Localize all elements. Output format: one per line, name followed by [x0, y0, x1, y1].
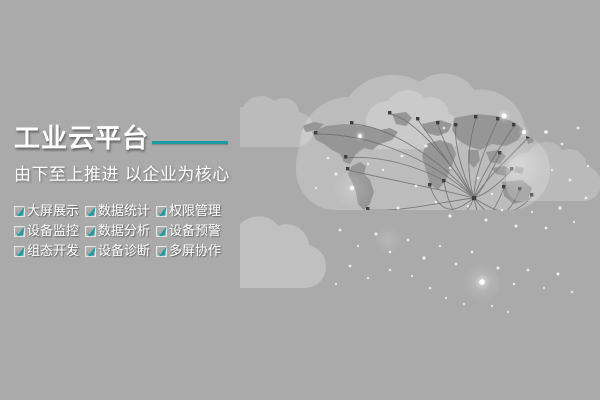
feature-item: 权限管理: [156, 202, 227, 221]
title-row: 工业云平台: [14, 124, 244, 154]
check-icon: [14, 226, 25, 237]
feature-checklist: 大屏展示数据统计权限管理设备监控数据分析设备预警组态开发设备诊断多屏协作: [14, 202, 244, 261]
feature-label: 设备监控: [27, 222, 79, 241]
feature-label: 数据统计: [98, 202, 150, 221]
check-icon: [156, 226, 167, 237]
check-icon: [85, 206, 96, 217]
feature-item: 多屏协作: [156, 242, 227, 261]
cloud-shape-bottom-left: [240, 216, 326, 288]
feature-item: 数据分析: [85, 222, 156, 241]
check-icon: [156, 206, 167, 217]
feature-label: 权限管理: [169, 202, 221, 221]
feature-item: 设备监控: [14, 222, 85, 241]
feature-item: 组态开发: [14, 242, 85, 261]
feature-label: 组态开发: [27, 242, 79, 261]
cloud-network-illustration: [240, 70, 600, 320]
page-title: 工业云平台: [14, 124, 149, 154]
feature-label: 设备预警: [169, 222, 221, 241]
subtitle: 由下至上推进 以企业为核心: [14, 164, 244, 186]
check-icon: [85, 226, 96, 237]
banner-root: 工业云平台 由下至上推进 以企业为核心 大屏展示数据统计权限管理设备监控数据分析…: [0, 0, 600, 400]
feature-item: 大屏展示: [14, 202, 85, 221]
feature-label: 数据分析: [98, 222, 150, 241]
check-icon: [85, 246, 96, 257]
feature-label: 大屏展示: [27, 202, 79, 221]
feature-label: 设备诊断: [98, 242, 150, 261]
hero-text-block: 工业云平台 由下至上推进 以企业为核心 大屏展示数据统计权限管理设备监控数据分析…: [14, 124, 244, 261]
feature-label: 多屏协作: [169, 242, 221, 261]
check-icon: [14, 246, 25, 257]
title-underline-rule: [152, 141, 228, 144]
check-icon: [156, 246, 167, 257]
check-icon: [14, 206, 25, 217]
feature-item: 数据统计: [85, 202, 156, 221]
feature-item: 设备预警: [156, 222, 227, 241]
feature-item: 设备诊断: [85, 242, 156, 261]
